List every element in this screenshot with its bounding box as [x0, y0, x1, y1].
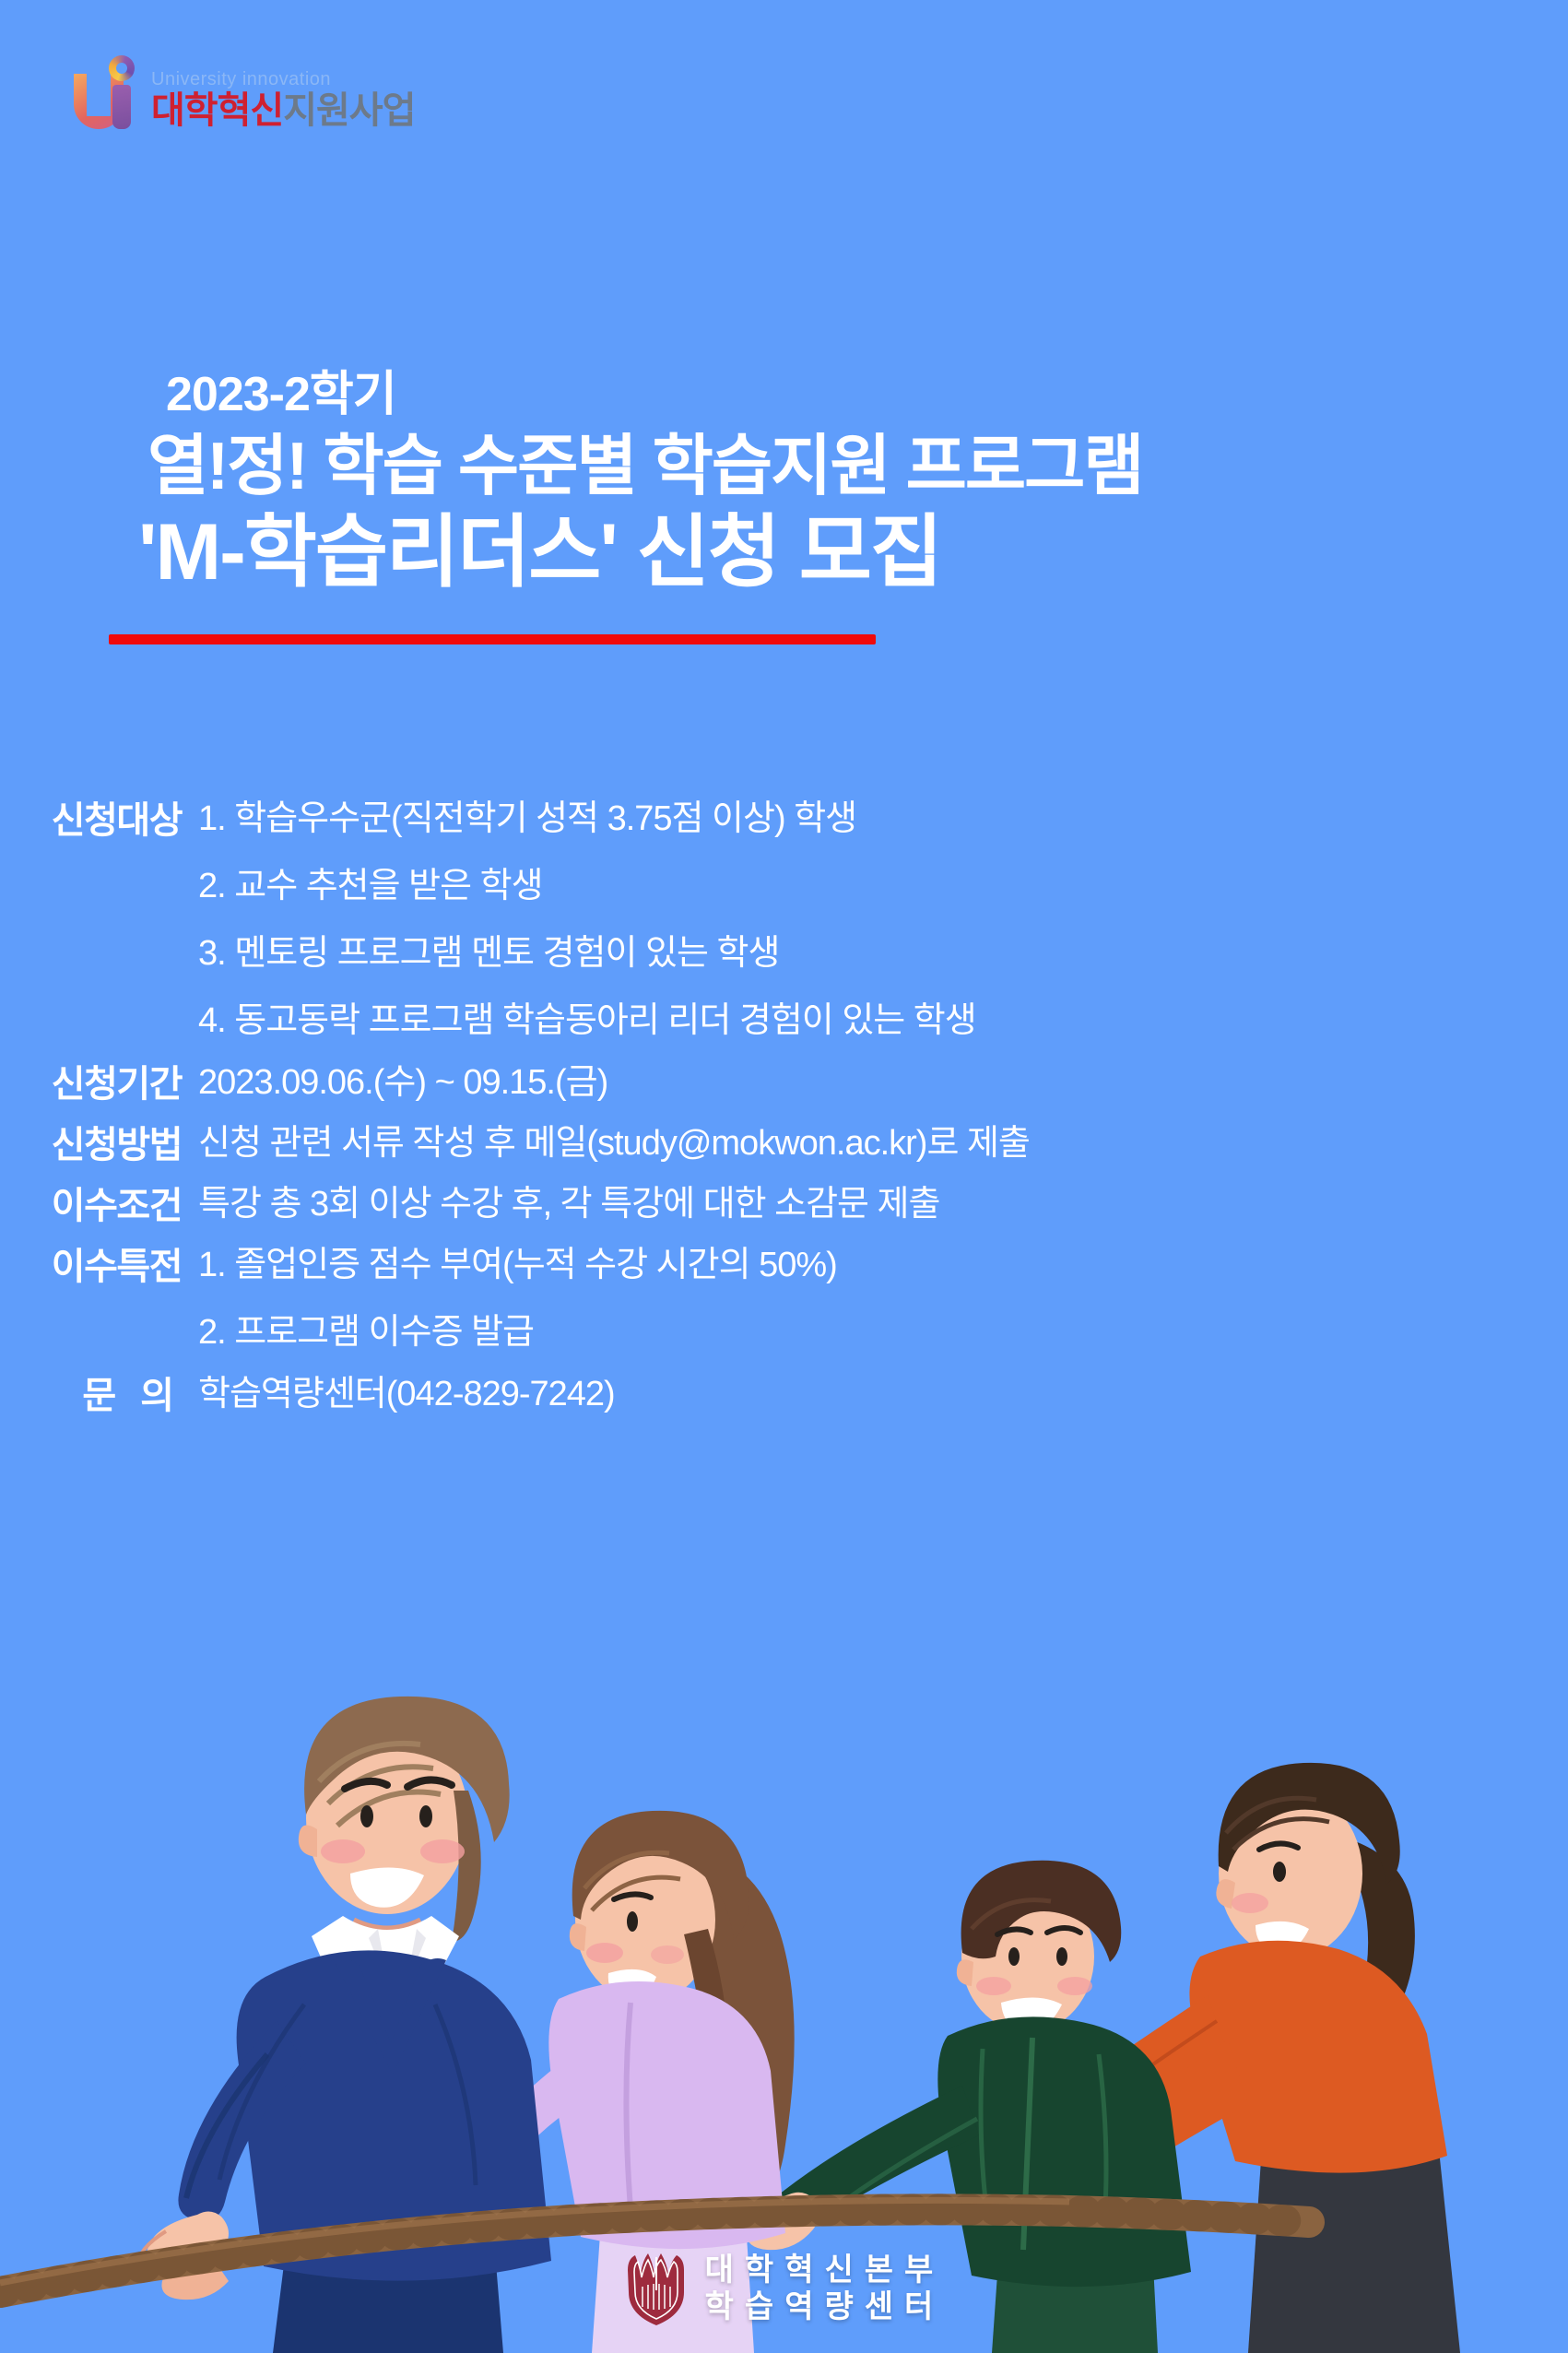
- brand-korean-red: 대학혁신: [151, 90, 283, 131]
- detail-value-line: 신청 관련 서류 작성 후 메일(study@mokwon.ac.kr)로 제출: [198, 1124, 1030, 1163]
- mokwon-university-crest-icon: [624, 2250, 689, 2327]
- four-students-tug-of-war-illustration: [0, 1652, 1568, 2353]
- university-innovation-ui-mark-icon: [72, 53, 144, 129]
- detail-label: 이수특전: [0, 1239, 198, 1295]
- detail-value: 특강 총 3회 이상 수강 후, 각 특강에 대한 소감문 제출: [198, 1178, 1568, 1231]
- program-title-line2: 'M-학습리더스' 신청 모집: [138, 503, 941, 603]
- detail-value-line: 1. 졸업인증 점수 부여(누적 수강 시간의 50%): [198, 1246, 837, 1284]
- details-list: 신청대상 1. 학습우수군(직전학기 성적 3.75점 이상) 학생 2. 교수…: [0, 793, 1568, 1429]
- detail-label: 신청대상: [0, 793, 198, 848]
- headline-block: 2023-2학기 열!정! 학습 수준별 학습지원 프로그램 'M-학습리더스'…: [0, 369, 1568, 602]
- detail-value: 1. 졸업인증 점수 부여(누적 수강 시간의 50%) 2. 프로그램 이수증…: [198, 1239, 1568, 1359]
- detail-label: 신청방법: [0, 1117, 198, 1173]
- brand-english-label: University innovation: [151, 70, 415, 89]
- detail-value: 신청 관련 서류 작성 후 메일(study@mokwon.ac.kr)로 제출: [198, 1117, 1568, 1170]
- footer-org-name: 대학혁신본부 학습역량센터: [705, 2252, 945, 2325]
- detail-value: 1. 학습우수군(직전학기 성적 3.75점 이상) 학생 2. 교수 추천을 …: [198, 793, 1568, 1047]
- detail-value-line: 1. 학습우수군(직전학기 성적 3.75점 이상) 학생: [198, 799, 856, 838]
- brand-text: University innovation 대학혁신지원사업: [151, 70, 415, 129]
- brand-korean-label: 대학혁신지원사업: [151, 92, 415, 129]
- detail-row-completion-benefit: 이수특전 1. 졸업인증 점수 부여(누적 수강 시간의 50%) 2. 프로그…: [0, 1239, 1568, 1359]
- program-title-line1: 열!정! 학습 수준별 학습지원 프로그램: [0, 427, 1568, 506]
- detail-row-completion-condition: 이수조건 특강 총 3회 이상 수강 후, 각 특강에 대한 소감문 제출: [0, 1178, 1568, 1234]
- footer-org-line2: 학습역량센터: [705, 2288, 945, 2325]
- detail-value-line: 학습역량센터(042-829-7242): [198, 1375, 615, 1413]
- title-red-underline: [109, 634, 876, 644]
- semester-label: 2023-2학기: [0, 369, 1568, 421]
- detail-row-inquiry: 문의 학습역량센터(042-829-7242): [0, 1368, 1568, 1424]
- detail-value: 2023.09.06.(수) ~ 09.15.(금): [198, 1057, 1568, 1109]
- detail-value-line: 2. 교수 추천을 받은 학생: [198, 860, 1568, 913]
- detail-label: 이수조건: [0, 1178, 198, 1234]
- detail-value-line: 2. 프로그램 이수증 발급: [198, 1307, 1568, 1359]
- program-title-line2-wrap: 'M-학습리더스' 신청 모집: [0, 503, 1568, 603]
- footer-org-line1: 대학혁신본부: [705, 2252, 945, 2288]
- detail-value-line: 2023.09.06.(수) ~ 09.15.(금): [198, 1063, 607, 1102]
- detail-value-line: 3. 멘토링 프로그램 멘토 경험이 있는 학생: [198, 928, 1568, 980]
- brand-logo: University innovation 대학혁신지원사업: [72, 53, 415, 129]
- detail-label: 신청기간: [0, 1057, 198, 1112]
- detail-row-apply-period: 신청기간 2023.09.06.(수) ~ 09.15.(금): [0, 1057, 1568, 1112]
- brand-korean-gray: 지원사업: [283, 90, 415, 131]
- logo-i-stem: [112, 85, 131, 129]
- detail-value-line: 4. 동고동락 프로그램 학습동아리 리더 경험이 있는 학생: [198, 995, 1568, 1047]
- detail-row-apply-method: 신청방법 신청 관련 서류 작성 후 메일(study@mokwon.ac.kr…: [0, 1117, 1568, 1173]
- detail-row-apply-target: 신청대상 1. 학습우수군(직전학기 성적 3.75점 이상) 학생 2. 교수…: [0, 793, 1568, 1047]
- detail-label: 문의: [0, 1368, 198, 1424]
- logo-i-dot-icon: [109, 55, 135, 81]
- footer-logo-block: 대학혁신본부 학습역량센터: [0, 2250, 1568, 2327]
- detail-value: 학습역량센터(042-829-7242): [198, 1368, 1568, 1421]
- poster-root: University innovation 대학혁신지원사업 2023-2학기 …: [0, 0, 1568, 2353]
- detail-value-line: 특강 총 3회 이상 수강 후, 각 특강에 대한 소감문 제출: [198, 1185, 939, 1224]
